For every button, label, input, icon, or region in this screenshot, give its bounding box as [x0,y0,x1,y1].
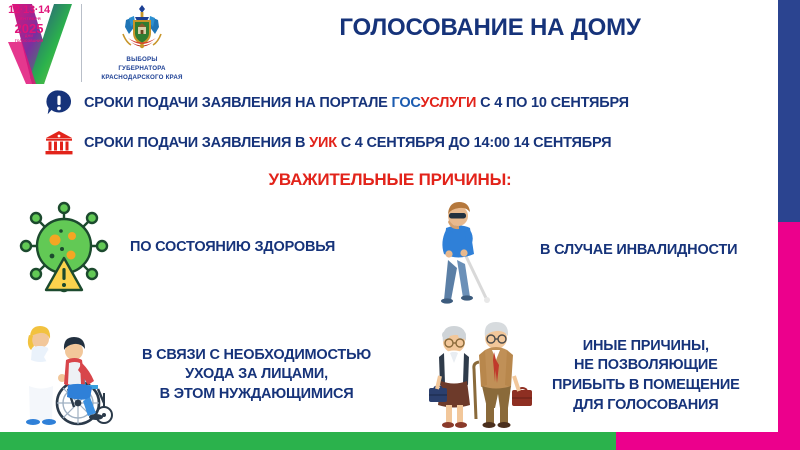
government-building-icon [44,128,74,158]
reason-disability: В СЛУЧАЕ ИНВАЛИДНОСТИ [424,196,774,306]
elderly-couple-icon [424,320,534,432]
logo-sub-dni: ДНИ [5,35,53,39]
right-edge-bar-pink [778,222,800,450]
reason-care-line3: В ЭТОМ НУЖДАЮЩИМИСЯ [142,385,371,405]
reason-other-line2: НЕ ПОЗВОЛЯЮЩИЕ [552,356,740,376]
poster-root: 12·13·14 СЕНТЯБРЯ 2025 ДНИ ГОЛОСОВАНИЯ [0,0,800,450]
logo-dates: 12·13·14 [5,5,53,16]
nurse-pushing-wheelchair-icon [16,323,128,427]
reason-other-label: ИНЫЕ ПРИЧИНЫ, НЕ ПОЗВОЛЯЮЩИЕ ПРИБЫТЬ В П… [552,337,740,415]
emblem-block: ВЫБОРЫ ГУБЕРНАТОРА КРАСНОДАРСКОГО КРАЯ [90,4,194,83]
reason-other-line4: ДЛЯ ГОЛОСОВАНИЯ [552,396,740,416]
deadline-row-gosuslugi: СРОКИ ПОДАЧИ ЗАЯВЛЕНИЯ НА ПОРТАЛЕ ГОСУСЛ… [44,88,629,118]
bottom-bar-pink [616,432,800,450]
deadline-suffix: С 4 ПО 10 СЕНТЯБРЯ [476,95,629,111]
deadline-suffix: С 4 СЕНТЯБРЯ ДО 14:00 14 СЕНТЯБРЯ [337,135,611,151]
reasons-heading: УВАЖИТЕЛЬНЫЕ ПРИЧИНЫ: [0,170,780,190]
virus-warning-icon [14,200,114,296]
reason-care-line1: В СВЯЗИ С НЕОБХОДИМОСТЬЮ [142,346,371,366]
deadline-text-gosuslugi: СРОКИ ПОДАЧИ ЗАЯВЛЕНИЯ НА ПОРТАЛЕ ГОСУСЛ… [84,95,629,111]
reason-other: ИНЫЕ ПРИЧИНЫ, НЕ ПОЗВОЛЯЮЩИЕ ПРИБЫТЬ В П… [424,316,774,436]
reason-care-label: В СВЯЗИ С НЕОБХОДИМОСТЬЮ УХОДА ЗА ЛИЦАМИ… [142,346,371,405]
blind-person-with-cane-icon [424,198,496,304]
deadline-text-uik: СРОКИ ПОДАЧИ ЗАЯВЛЕНИЯ В УИК С 4 СЕНТЯБР… [84,135,611,151]
reason-care: В СВЯЗИ С НЕОБХОДИМОСТЬЮ УХОДА ЗА ЛИЦАМИ… [16,320,396,430]
reason-other-line3: ПРИБЫТЬ В ПОМЕЩЕНИЕ [552,376,740,396]
bottom-accent-bar [0,432,800,450]
gosuslugi-brand-uslugi: УСЛУГИ [420,95,476,111]
deadline-row-uik: СРОКИ ПОДАЧИ ЗАЯВЛЕНИЯ В УИК С 4 СЕНТЯБР… [44,128,611,158]
emblem-caption-line3: КРАСНОДАРСКОГО КРАЯ [90,74,194,83]
logo-sub-golosovaniya: ГОЛОСОВАНИЯ [5,40,53,44]
deadline-prefix: СРОКИ ПОДАЧИ ЗАЯВЛЕНИЯ НА ПОРТАЛЕ [84,95,391,111]
exclamation-bubble-icon [44,88,74,118]
krasnodar-krai-coat-of-arms [113,4,171,54]
emblem-caption-line1: ВЫБОРЫ [90,56,194,65]
gosuslugi-brand-gos: ГОС [391,95,420,111]
uik-highlight: УИК [309,135,337,151]
header-divider [81,4,82,82]
logo-date-block: 12·13·14 СЕНТЯБРЯ 2025 ДНИ ГОЛОСОВАНИЯ [5,5,53,43]
reason-other-line1: ИНЫЕ ПРИЧИНЫ, [552,337,740,357]
reason-health: ПО СОСТОЯНИЮ ЗДОРОВЬЯ [14,198,384,298]
emblem-caption-line2: ГУБЕРНАТОРА [90,65,194,74]
bottom-bar-green [0,432,616,450]
deadline-prefix: СРОКИ ПОДАЧИ ЗАЯВЛЕНИЯ В [84,135,309,151]
reason-disability-label: В СЛУЧАЕ ИНВАЛИДНОСТИ [540,241,737,261]
poster-header: 12·13·14 СЕНТЯБРЯ 2025 ДНИ ГОЛОСОВАНИЯ [0,0,800,86]
page-title: ГОЛОСОВАНИЕ НА ДОМУ [210,14,770,42]
reason-care-line2: УХОДА ЗА ЛИЦАМИ, [142,365,371,385]
emblem-caption: ВЫБОРЫ ГУБЕРНАТОРА КРАСНОДАРСКОГО КРАЯ [90,56,194,83]
reason-health-label: ПО СОСТОЯНИЮ ЗДОРОВЬЯ [130,238,335,258]
